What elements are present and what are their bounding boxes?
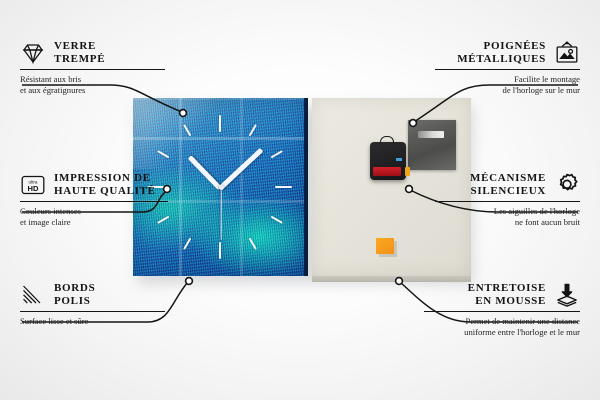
callout-description: Surface lisse et sûre <box>20 316 165 326</box>
metal-hanger-plate <box>408 120 456 170</box>
callout-title: POIGNÉES MÉTALLIQUES <box>457 40 546 66</box>
foam-spacer-arrow-icon <box>554 282 580 308</box>
callout-description: Les aiguilles de l'horloge ne font aucun… <box>435 206 580 227</box>
hour-marker <box>183 238 191 250</box>
callout-mecanisme-silencieux[interactable]: MÉCANISME SILENCIEUX Les aiguilles de l'… <box>435 172 580 227</box>
hour-marker <box>271 150 283 158</box>
hour-marker <box>157 150 169 158</box>
battery-terminal <box>405 167 410 176</box>
callout-divider <box>20 201 168 202</box>
diamond-icon <box>20 40 46 66</box>
hour-marker <box>249 238 257 250</box>
callout-divider <box>435 201 580 202</box>
gear-icon <box>554 172 580 198</box>
hour-marker <box>271 216 283 224</box>
callout-verre-trempe[interactable]: VERRE TREMPÉ Résistant aux bris et aux é… <box>20 40 165 95</box>
product-illustration <box>133 98 471 278</box>
callout-bords-polis[interactable]: BORDS POLIS Surface lisse et sûre <box>20 282 165 327</box>
hour-marker <box>275 186 292 188</box>
hanger-slot <box>418 131 444 138</box>
callout-description: Permet de maintenir une distance uniform… <box>424 316 580 337</box>
callout-divider <box>20 69 165 70</box>
battery <box>373 167 401 176</box>
callout-impression-haute-qualite[interactable]: ultra HD IMPRESSION DE HAUTE QUALITÉ Cou… <box>20 172 168 227</box>
mechanism-label <box>396 158 402 161</box>
callout-title: BORDS POLIS <box>54 282 95 308</box>
svg-text:HD: HD <box>28 184 39 193</box>
glass-glare <box>133 98 238 169</box>
callout-divider <box>424 311 580 312</box>
callout-divider <box>435 69 580 70</box>
ultra-hd-icon: ultra HD <box>20 172 46 198</box>
callout-description: Facilite le montage de l'horloge sur le … <box>435 74 580 95</box>
clock-mechanism <box>370 142 406 180</box>
callout-entretoise-en-mousse[interactable]: ENTRETOISE EN MOUSSE Permet de maintenir… <box>424 282 580 337</box>
hour-marker <box>219 115 221 132</box>
hour-marker <box>249 124 257 136</box>
callout-poignees-metalliques[interactable]: POIGNÉES MÉTALLIQUES Facilite le montage… <box>435 40 580 95</box>
polished-edges-icon <box>20 282 46 308</box>
clock-hub <box>219 185 224 190</box>
callout-description: Couleurs intenses et image claire <box>20 206 168 227</box>
hour-marker <box>183 124 191 136</box>
hour-hand <box>188 155 222 190</box>
callout-title: MÉCANISME SILENCIEUX <box>470 172 546 198</box>
mechanism-hook <box>380 136 394 144</box>
callout-divider <box>20 311 165 312</box>
callout-title: IMPRESSION DE HAUTE QUALITÉ <box>54 172 156 198</box>
minute-hand <box>218 148 263 191</box>
callout-title: ENTRETOISE EN MOUSSE <box>468 282 546 308</box>
second-hand <box>220 188 221 240</box>
foam-spacer <box>376 238 394 254</box>
infographic-canvas: VERRE TREMPÉ Résistant aux bris et aux é… <box>0 0 600 400</box>
callout-description: Résistant aux bris et aux égratignures <box>20 74 165 95</box>
callout-title: VERRE TREMPÉ <box>54 40 105 66</box>
glass-edge <box>304 98 308 276</box>
hour-marker <box>219 242 221 259</box>
picture-frame-hook-icon <box>554 40 580 66</box>
